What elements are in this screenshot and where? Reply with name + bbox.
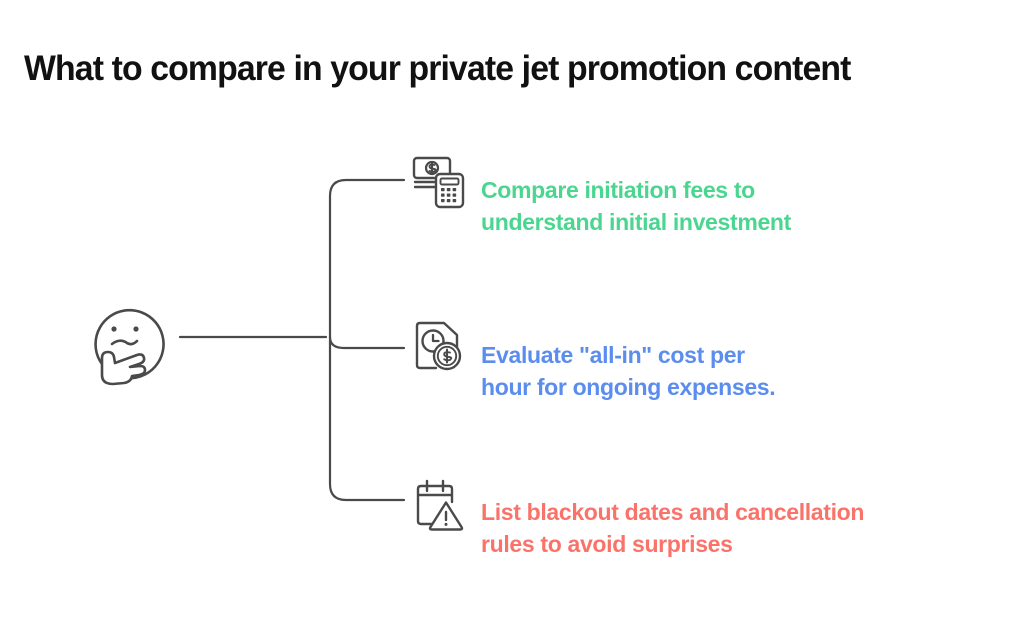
branch-label-3: List blackout dates and cancellation rul… bbox=[481, 496, 864, 560]
branch-item-2: Evaluate "all-in" cost per hour for ongo… bbox=[410, 318, 781, 403]
document-clock-dollar-icon bbox=[410, 318, 468, 376]
infographic-canvas: What to compare in your private jet prom… bbox=[0, 0, 1024, 622]
calendar-warning-icon bbox=[410, 476, 468, 534]
branch-item-1: Compare initiation fees to understand in… bbox=[410, 152, 797, 238]
connector-branch-top bbox=[330, 180, 404, 337]
money-calculator-icon bbox=[410, 152, 468, 210]
connector-branch-middle bbox=[330, 337, 404, 348]
page-title: What to compare in your private jet prom… bbox=[24, 46, 979, 92]
branch-label-2: Evaluate "all-in" cost per hour for ongo… bbox=[481, 339, 775, 403]
branch-item-3: List blackout dates and cancellation rul… bbox=[410, 476, 872, 560]
connector-branch-bottom bbox=[330, 337, 404, 500]
branch-label-1: Compare initiation fees to understand in… bbox=[481, 174, 791, 238]
thinking-face-icon bbox=[82, 296, 178, 392]
